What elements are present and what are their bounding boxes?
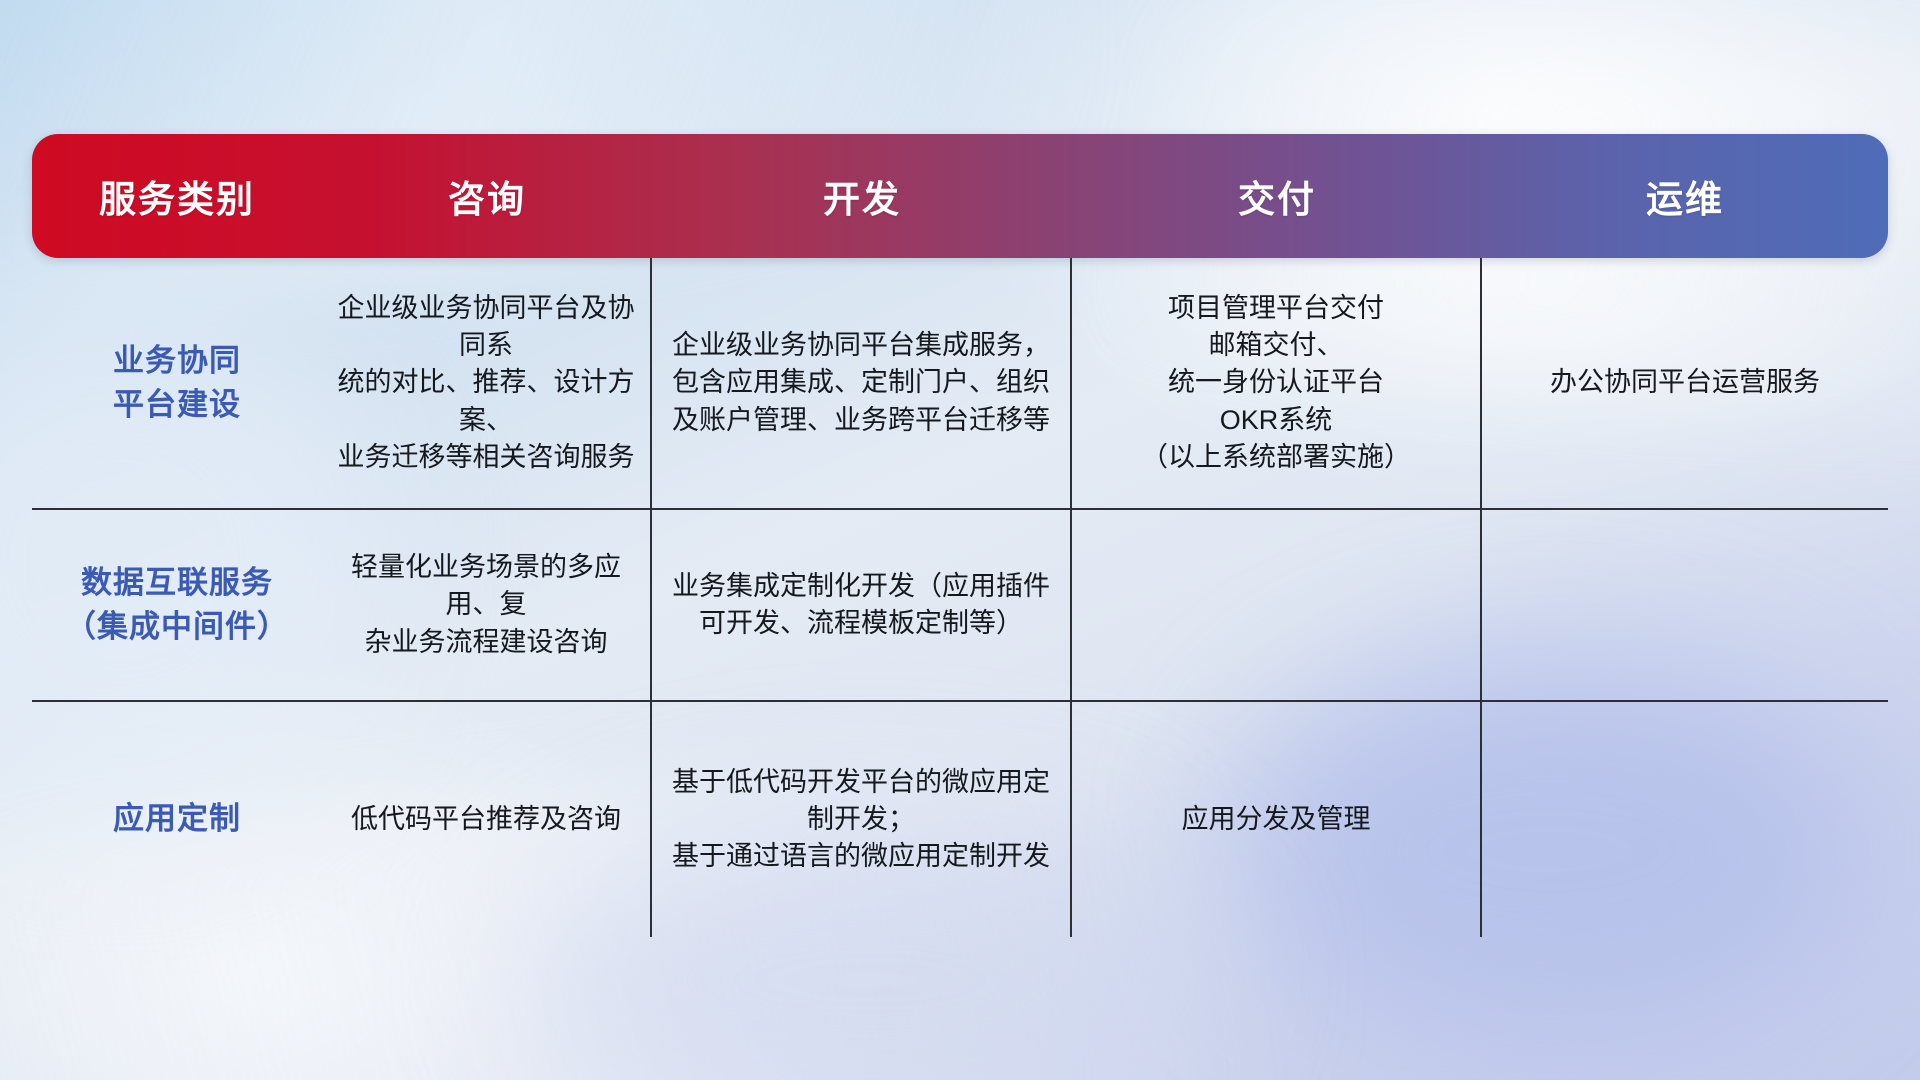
column-header-delivery: 交付 bbox=[1072, 134, 1482, 258]
cell-operations: 办公协同平台运营服务 bbox=[1482, 258, 1888, 508]
table-row: 数据互联服务 （集成中间件） 轻量化业务场景的多应用、复 杂业务流程建设咨询 业… bbox=[32, 510, 1888, 702]
column-header-consulting: 咨询 bbox=[322, 134, 652, 258]
cell-development: 企业级业务协同平台集成服务， 包含应用集成、定制门户、组织 及账户管理、业务跨平… bbox=[652, 258, 1072, 508]
cell-delivery: 应用分发及管理 bbox=[1072, 702, 1482, 937]
column-header-development: 开发 bbox=[652, 134, 1072, 258]
cell-operations bbox=[1482, 702, 1888, 937]
row-category-label: 数据互联服务 （集成中间件） bbox=[32, 510, 322, 700]
column-header-category: 服务类别 bbox=[32, 134, 322, 258]
row-category-label: 业务协同 平台建设 bbox=[32, 258, 322, 508]
row-category-label: 应用定制 bbox=[32, 702, 322, 937]
table-header-row: 服务类别 咨询 开发 交付 运维 bbox=[32, 134, 1888, 258]
cell-delivery: 项目管理平台交付 邮箱交付、 统一身份认证平台 OKR系统 （以上系统部署实施） bbox=[1072, 258, 1482, 508]
table-row: 应用定制 低代码平台推荐及咨询 基于低代码开发平台的微应用定 制开发； 基于通过… bbox=[32, 702, 1888, 937]
cell-development: 业务集成定制化开发（应用插件 可开发、流程模板定制等） bbox=[652, 510, 1072, 700]
cell-consulting: 轻量化业务场景的多应用、复 杂业务流程建设咨询 bbox=[322, 510, 652, 700]
cell-consulting: 企业级业务协同平台及协同系 统的对比、推荐、设计方案、 业务迁移等相关咨询服务 bbox=[322, 258, 652, 508]
column-header-operations: 运维 bbox=[1482, 134, 1888, 258]
cell-development: 基于低代码开发平台的微应用定 制开发； 基于通过语言的微应用定制开发 bbox=[652, 702, 1072, 937]
cell-delivery bbox=[1072, 510, 1482, 700]
slide-canvas: 服务类别 咨询 开发 交付 运维 业务协同 平台建设 企业级业务协同平台及协同系… bbox=[0, 0, 1920, 1080]
cell-consulting: 低代码平台推荐及咨询 bbox=[322, 702, 652, 937]
cell-operations bbox=[1482, 510, 1888, 700]
table-body: 业务协同 平台建设 企业级业务协同平台及协同系 统的对比、推荐、设计方案、 业务… bbox=[32, 258, 1888, 937]
table-row: 业务协同 平台建设 企业级业务协同平台及协同系 统的对比、推荐、设计方案、 业务… bbox=[32, 258, 1888, 510]
service-matrix-table: 服务类别 咨询 开发 交付 运维 业务协同 平台建设 企业级业务协同平台及协同系… bbox=[32, 134, 1888, 937]
